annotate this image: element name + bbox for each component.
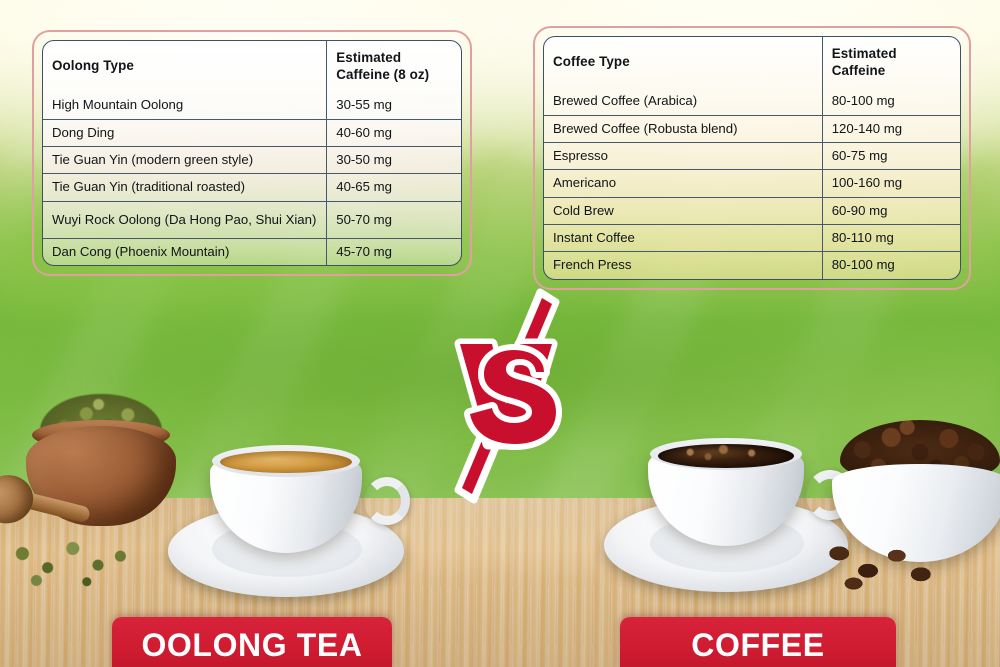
table-header-row: Oolong Type Estimated Caffeine (8 oz) xyxy=(43,41,461,92)
banner-oolong-tea[interactable]: OOLONG TEA xyxy=(112,617,392,667)
infographic-root: Oolong Type Estimated Caffeine (8 oz) Hi… xyxy=(0,0,1000,667)
table-row: Cold Brew 60-90 mg xyxy=(544,198,960,225)
column-header-oolong-type: Oolong Type xyxy=(43,41,327,92)
cell-coffee-caffeine: 120-140 mg xyxy=(823,116,960,143)
cell-coffee-caffeine: 100-160 mg xyxy=(823,170,960,197)
table-row: Espresso 60-75 mg xyxy=(544,143,960,170)
cell-coffee-caffeine: 60-75 mg xyxy=(823,143,960,170)
cell-oolong-caffeine: 30-50 mg xyxy=(327,147,461,174)
tea-liquid xyxy=(220,451,352,473)
cell-oolong-caffeine: 40-60 mg xyxy=(327,120,461,147)
cell-coffee-caffeine: 80-110 mg xyxy=(823,225,960,252)
banner-coffee[interactable]: COFFEE xyxy=(620,617,896,667)
table-row: French Press 80-100 mg xyxy=(544,252,960,278)
table-row: Dan Cong (Phoenix Mountain) 45-70 mg xyxy=(43,239,461,265)
column-header-coffee-caffeine: Estimated Caffeine xyxy=(823,37,960,88)
banner-oolong-tea-label: OOLONG TEA xyxy=(141,627,362,664)
table-header-row: Coffee Type Estimated Caffeine xyxy=(544,37,960,88)
oolong-table-card: Oolong Type Estimated Caffeine (8 oz) Hi… xyxy=(32,30,472,276)
table-row: Wuyi Rock Oolong (Da Hong Pao, Shui Xian… xyxy=(43,202,461,239)
teacup-with-saucer xyxy=(168,443,404,603)
table-row: Brewed Coffee (Arabica) 80-100 mg xyxy=(544,88,960,115)
cell-oolong-type: Dan Cong (Phoenix Mountain) xyxy=(43,239,327,265)
column-header-coffee-type: Coffee Type xyxy=(544,37,823,88)
cell-oolong-caffeine: 30-55 mg xyxy=(327,92,461,119)
cell-coffee-type: Americano xyxy=(544,170,823,197)
coffee-table-card: Coffee Type Estimated Caffeine Brewed Co… xyxy=(533,26,971,290)
cell-oolong-caffeine: 50-70 mg xyxy=(327,202,461,239)
spilled-coffee-beans xyxy=(820,536,940,594)
table-row: Americano 100-160 mg xyxy=(544,170,960,197)
loose-tea-leaves xyxy=(0,528,140,592)
cell-oolong-type: Wuyi Rock Oolong (Da Hong Pao, Shui Xian… xyxy=(43,202,327,239)
table-row: Instant Coffee 80-110 mg xyxy=(544,225,960,252)
table-row: Tie Guan Yin (traditional roasted) 40-65… xyxy=(43,174,461,201)
coffee-cup-with-saucer xyxy=(604,434,850,596)
table-row: Brewed Coffee (Robusta blend) 120-140 mg xyxy=(544,116,960,143)
oolong-caffeine-table: Oolong Type Estimated Caffeine (8 oz) Hi… xyxy=(42,40,462,266)
table-row: Dong Ding 40-60 mg xyxy=(43,120,461,147)
cell-coffee-type: French Press xyxy=(544,252,823,278)
cell-coffee-caffeine: 60-90 mg xyxy=(823,198,960,225)
cell-coffee-type: Cold Brew xyxy=(544,198,823,225)
cell-oolong-type: High Mountain Oolong xyxy=(43,92,327,119)
cell-coffee-caffeine: 80-100 mg xyxy=(823,88,960,115)
table-row: High Mountain Oolong 30-55 mg xyxy=(43,92,461,119)
teacup-handle xyxy=(364,477,410,525)
table-row: Tie Guan Yin (modern green style) 30-50 … xyxy=(43,147,461,174)
column-header-oolong-caffeine: Estimated Caffeine (8 oz) xyxy=(327,41,461,92)
coffee-caffeine-table: Coffee Type Estimated Caffeine Brewed Co… xyxy=(543,36,961,280)
cell-coffee-type: Espresso xyxy=(544,143,823,170)
cell-oolong-type: Tie Guan Yin (traditional roasted) xyxy=(43,174,327,201)
coffee-crema xyxy=(662,445,790,465)
cell-coffee-type: Instant Coffee xyxy=(544,225,823,252)
cell-oolong-caffeine: 45-70 mg xyxy=(327,239,461,265)
cell-coffee-type: Brewed Coffee (Robusta blend) xyxy=(544,116,823,143)
banner-coffee-label: COFFEE xyxy=(691,627,824,664)
cell-oolong-type: Tie Guan Yin (modern green style) xyxy=(43,147,327,174)
cell-coffee-caffeine: 80-100 mg xyxy=(823,252,960,278)
cell-coffee-type: Brewed Coffee (Arabica) xyxy=(544,88,823,115)
cell-oolong-caffeine: 40-65 mg xyxy=(327,174,461,201)
cell-oolong-type: Dong Ding xyxy=(43,120,327,147)
scoop-bowl xyxy=(0,470,38,529)
